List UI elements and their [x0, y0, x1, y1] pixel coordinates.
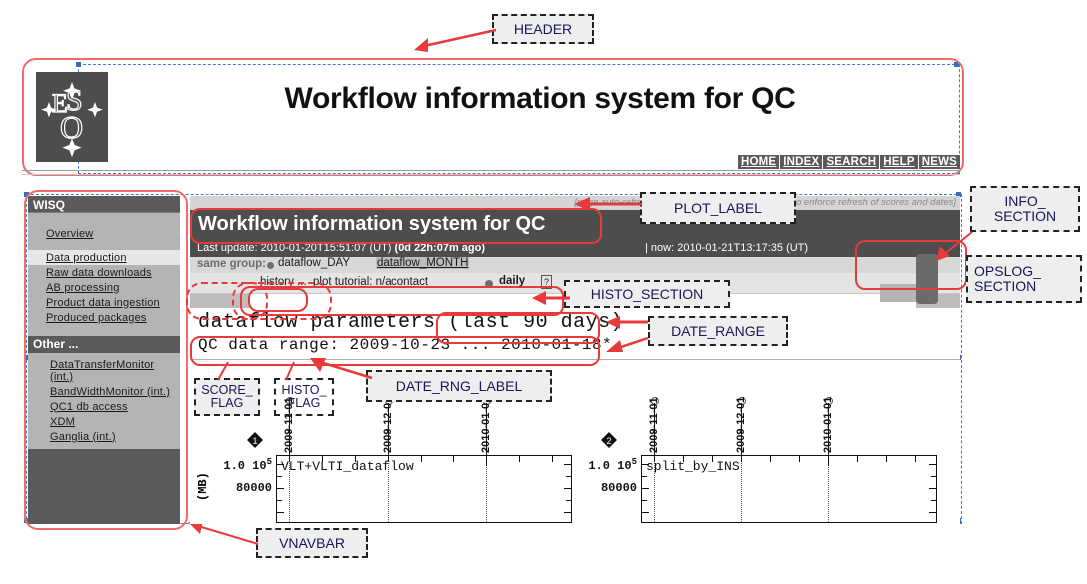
- sidebar-title: WISQ: [28, 196, 180, 213]
- svg-text:1: 1: [252, 436, 257, 446]
- plot-series-label: split_by_INS: [646, 459, 740, 474]
- group-option-dataflow-day[interactable]: dataflow_DAY: [278, 257, 350, 269]
- callout-info-section-line1: INFO_: [1004, 194, 1045, 209]
- sidebar-item-datatransfermonitor[interactable]: DataTransferMonitor (int.): [28, 357, 180, 384]
- sidebar-item-raw-data-downloads[interactable]: Raw data downloads: [28, 265, 180, 280]
- callout-arrow-date-rng-label: [300, 356, 380, 386]
- sidebar-group-overview: Overview Data production Raw data downlo…: [28, 213, 180, 336]
- header-nav: HOMEINDEXSEARCHHELPNEWS: [560, 152, 960, 170]
- help-icon[interactable]: ?: [541, 275, 552, 289]
- callout-plot-label: PLOT_LABEL: [640, 192, 796, 224]
- xtick-label: 2009-12-01: [735, 367, 747, 453]
- sidebar-item-overview[interactable]: Overview: [28, 226, 180, 241]
- callout-info-section-line2: SECTION: [994, 209, 1056, 224]
- nav-link-help[interactable]: HELP: [880, 155, 917, 169]
- ytick-label: 1.0 105: [565, 457, 637, 473]
- histo-flag-diamond-icon[interactable]: 2: [600, 431, 618, 453]
- callout-score-flag-line2: FLAG: [211, 397, 244, 410]
- callout-date-range: DATE_RANGE: [648, 316, 788, 346]
- ytick-label: 1.0 105: [200, 457, 272, 473]
- callout-arrow-date-range: [596, 314, 652, 358]
- nav-link-index[interactable]: INDEX: [780, 155, 822, 169]
- sidebar-item-produced-packages[interactable]: Produced packages: [28, 310, 180, 325]
- header-divider: [22, 170, 960, 175]
- xtick-label: 2009-11-01: [648, 367, 660, 453]
- group-option-dataflow-month[interactable]: dataflow_MONTH: [376, 257, 469, 269]
- history-link[interactable]: history ...: [260, 276, 307, 288]
- sidebar-item-xdm[interactable]: XDM: [28, 414, 180, 429]
- sidebar-item-product-data-ingestion[interactable]: Product data ingestion: [28, 295, 180, 310]
- ytick-label: 80000: [200, 481, 272, 495]
- sidebar-item-ganglia[interactable]: Ganglia (int.): [28, 429, 180, 444]
- group-label: same group:: [197, 258, 266, 270]
- plot-split-by-ins[interactable]: 2 2009-11-01 2009-12-01 2010-01-01 1.0 1…: [575, 371, 960, 521]
- selection-handle[interactable]: [76, 62, 81, 67]
- callout-histo-section: HISTO_SECTION: [564, 280, 730, 308]
- sidebar-item-data-production[interactable]: Data production: [28, 250, 180, 265]
- sidebar: WISQ Overview Data production Raw data d…: [28, 196, 180, 524]
- eso-logo: E S O: [36, 72, 108, 162]
- plot-box[interactable]: VLT+VLTI_dataflow: [276, 455, 572, 523]
- svg-text:2: 2: [606, 436, 611, 446]
- dataflow-heading-text: dataflow parameters: [198, 311, 436, 334]
- contact-link[interactable]: contact: [391, 276, 428, 288]
- plot-series-label: VLT+VLTI_dataflow: [281, 459, 414, 474]
- group-selector-row: same group: dataflow_DAY dataflow_MONTH: [190, 257, 960, 273]
- now-label: | now: 2010-01-21T13:17:35 (UT): [645, 242, 808, 254]
- selection-handle[interactable]: [954, 62, 959, 67]
- dataflow-heading: dataflow parameters (last 90 days): [198, 311, 623, 334]
- radio-icon[interactable]: [267, 262, 274, 269]
- last-update-text: Last update: 2010-01-20T15:51:07 (UT) (0…: [197, 242, 485, 254]
- cadence-radio-icon[interactable]: [485, 280, 493, 288]
- callout-info-section: INFO_ SECTION: [970, 186, 1080, 232]
- cadence-label: daily: [499, 275, 525, 287]
- nav-link-search[interactable]: SEARCH: [823, 155, 879, 169]
- opslog-shade: [880, 284, 920, 302]
- last-update-ago: (0d 22h:07m ago): [395, 242, 485, 254]
- sidebar-group-other: DataTransferMonitor (int.) BandWidthMoni…: [28, 353, 180, 449]
- callout-arrow-histo-section: [524, 288, 574, 310]
- callout-arrow-header: [400, 24, 500, 56]
- callout-header: HEADER: [492, 14, 594, 44]
- page-title: Workflow information system for QC: [120, 82, 960, 116]
- nav-link-home[interactable]: HOME: [738, 155, 779, 169]
- callout-histo-flag-line2: FLAG: [288, 397, 321, 410]
- status-bar: Last update: 2010-01-20T15:51:07 (UT) (0…: [190, 240, 960, 257]
- callout-score-flag: SCORE_ FLAG: [194, 378, 260, 416]
- sidebar-item-ab-processing[interactable]: AB processing: [28, 280, 180, 295]
- xtick-label: 2010-01-01: [822, 367, 834, 453]
- callout-arrow-plot-label: [560, 196, 646, 218]
- callout-opslog-section-line1: OPSLOG_: [974, 264, 1041, 279]
- ytick-label: 80000: [565, 481, 637, 495]
- callout-date-rng-label: DATE_RNG_LABEL: [366, 370, 552, 402]
- callout-vnavbar: VNAVBAR: [256, 528, 368, 558]
- sidebar-subheading-other: Other ...: [28, 336, 180, 353]
- sidebar-item-bandwidthmonitor[interactable]: BandWidthMonitor (int.): [28, 384, 180, 399]
- score-flag-diamond-icon[interactable]: 1: [246, 431, 264, 453]
- plot-tutorial-label: plot tutorial: n/a: [313, 276, 392, 288]
- plot-box[interactable]: split_by_INS: [641, 455, 937, 523]
- nav-link-news[interactable]: NEWS: [919, 155, 960, 169]
- qc-data-range: QC data range: 2009-10-23 ... 2010-01-18…: [198, 336, 612, 354]
- last-update-label: Last update: 2010-01-20T15:51:07 (UT): [197, 242, 391, 254]
- sidebar-item-qc1-db-access[interactable]: QC1 db access: [28, 399, 180, 414]
- callout-opslog-section: OPSLOG_ SECTION: [966, 255, 1082, 303]
- callout-opslog-section-line2: SECTION: [974, 279, 1036, 294]
